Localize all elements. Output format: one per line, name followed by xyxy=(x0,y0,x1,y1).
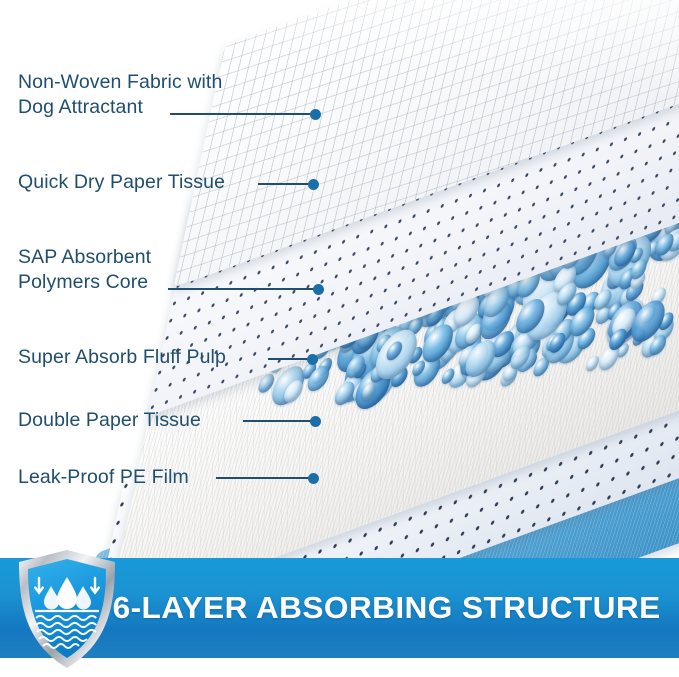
leader-dot-non-woven-fabric xyxy=(310,109,321,120)
leader-dot-sap-core xyxy=(313,284,324,295)
callout-quick-dry-tissue: Quick Dry Paper Tissue xyxy=(18,170,225,195)
leader-line-non-woven-fabric xyxy=(170,113,315,115)
waterproof-shield-badge xyxy=(15,548,119,670)
leader-dot-quick-dry-tissue xyxy=(308,179,319,190)
leader-line-double-tissue xyxy=(243,420,315,422)
leader-line-sap-core xyxy=(168,288,318,290)
callout-fluff-pulp: Super Absorb Fluff Pulp xyxy=(18,345,226,370)
leader-line-quick-dry-tissue xyxy=(258,183,313,185)
callout-label-quick-dry-tissue: Quick Dry Paper Tissue xyxy=(18,170,225,195)
product-infographic: Non-Woven Fabric with Dog AttractantQuic… xyxy=(0,0,679,677)
leader-dot-double-tissue xyxy=(310,416,321,427)
leader-dot-pe-film xyxy=(308,473,319,484)
banner-title: 6-LAYER ABSORBING STRUCTURE xyxy=(113,590,661,626)
leader-dot-fluff-pulp xyxy=(307,354,318,365)
callout-label-double-tissue: Double Paper Tissue xyxy=(18,408,201,433)
callout-double-tissue: Double Paper Tissue xyxy=(18,408,201,433)
leader-line-fluff-pulp xyxy=(268,358,312,360)
callout-sap-core: SAP Absorbent Polymers Core xyxy=(18,245,151,295)
leader-line-pe-film xyxy=(216,477,313,479)
callout-label-pe-film: Leak-Proof PE Film xyxy=(18,465,189,490)
callout-label-sap-core: SAP Absorbent Polymers Core xyxy=(18,245,151,295)
callout-label-fluff-pulp: Super Absorb Fluff Pulp xyxy=(18,345,226,370)
callout-pe-film: Leak-Proof PE Film xyxy=(18,465,189,490)
